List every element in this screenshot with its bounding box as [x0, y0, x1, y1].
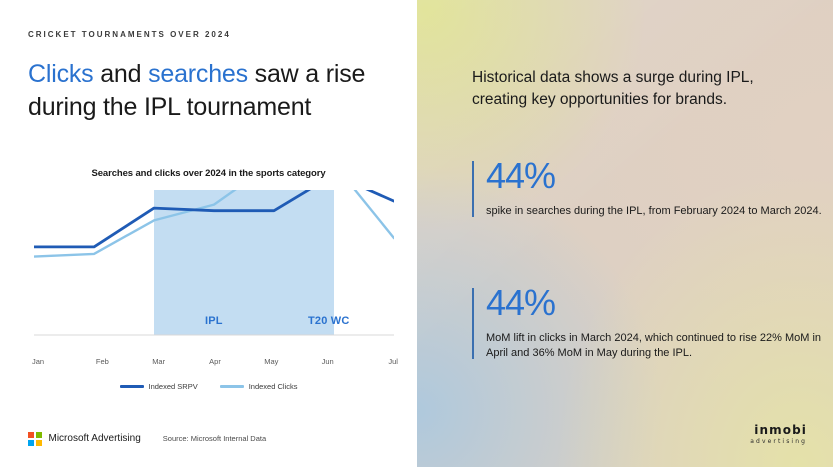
chart-x-tick-apr: Apr — [201, 357, 229, 366]
chart-legend-swatch — [220, 385, 244, 388]
chart-legend-label: Indexed SRPV — [149, 382, 198, 391]
chart-title: Searches and clicks over 2024 in the spo… — [0, 168, 417, 179]
right-panel: Historical data shows a surge during IPL… — [417, 0, 833, 467]
inmobi-logo-main: inmobi — [750, 423, 807, 437]
microsoft-logo-square-2 — [36, 432, 42, 438]
microsoft-logo-square-3 — [28, 440, 34, 446]
microsoft-advertising-logo: Microsoft Advertising — [28, 432, 141, 446]
stat-block-1: 44% spike in searches during the IPL, fr… — [472, 158, 822, 219]
chart-x-tick-jan: Jan — [32, 357, 60, 366]
microsoft-logo-square-4 — [36, 440, 42, 446]
chart-plot-area — [34, 190, 394, 320]
microsoft-logo-square-1 — [28, 432, 34, 438]
chart-legend-item[interactable]: Indexed SRPV — [120, 382, 198, 391]
chart-x-tick-feb: Feb — [88, 357, 116, 366]
chart-legend-swatch — [120, 385, 144, 388]
chart-legend-label: Indexed Clicks — [249, 382, 298, 391]
chart-x-tick-jun: Jun — [314, 357, 342, 366]
chart-x-tick-mar: Mar — [145, 357, 173, 366]
right-panel-lede: Historical data shows a surge during IPL… — [472, 67, 812, 111]
chart-annotation-t20wc: T20 WC — [308, 315, 350, 327]
chart-x-axis-labels: JanFebMarAprMayJunJul — [34, 357, 394, 366]
stat-description-1: spike in searches during the IPL, from F… — [486, 204, 822, 219]
left-panel: CRICKET TOURNAMENTS OVER 2024 Clicks and… — [0, 0, 417, 467]
stat-value-1: 44% — [486, 158, 822, 194]
stat-block-2: 44% MoM lift in clicks in March 2024, wh… — [472, 285, 833, 361]
headline-highlight-searches: searches — [148, 60, 248, 88]
inmobi-logo-sub: advertising — [750, 438, 807, 445]
chart-legend-item[interactable]: Indexed Clicks — [220, 382, 298, 391]
page-title: Clicks and searches saw a rise during th… — [28, 58, 408, 124]
stat-value-2: 44% — [486, 285, 833, 321]
chart-annotation-ipl: IPL — [205, 315, 223, 327]
headline-highlight-clicks: Clicks — [28, 60, 93, 88]
chart-legend: Indexed SRPVIndexed Clicks — [0, 382, 417, 391]
stat-description-2: MoM lift in clicks in March 2024, which … — [486, 331, 833, 361]
chart-x-tick-may: May — [257, 357, 285, 366]
chart-container: Searches and clicks over 2024 in the spo… — [0, 160, 417, 400]
headline-text-1: and — [93, 60, 148, 88]
chart-x-tick-jul: Jul — [370, 357, 398, 366]
source-label: Source: Microsoft Internal Data — [163, 434, 266, 443]
microsoft-brand-label: Microsoft Advertising — [49, 433, 141, 444]
inmobi-logo: inmobi advertising — [750, 423, 807, 445]
microsoft-logo-icon — [28, 432, 42, 446]
footer: Microsoft Advertising Source: Microsoft … — [28, 432, 266, 446]
slide-root: CRICKET TOURNAMENTS OVER 2024 Clicks and… — [0, 0, 833, 467]
eyebrow-label: CRICKET TOURNAMENTS OVER 2024 — [28, 30, 231, 39]
